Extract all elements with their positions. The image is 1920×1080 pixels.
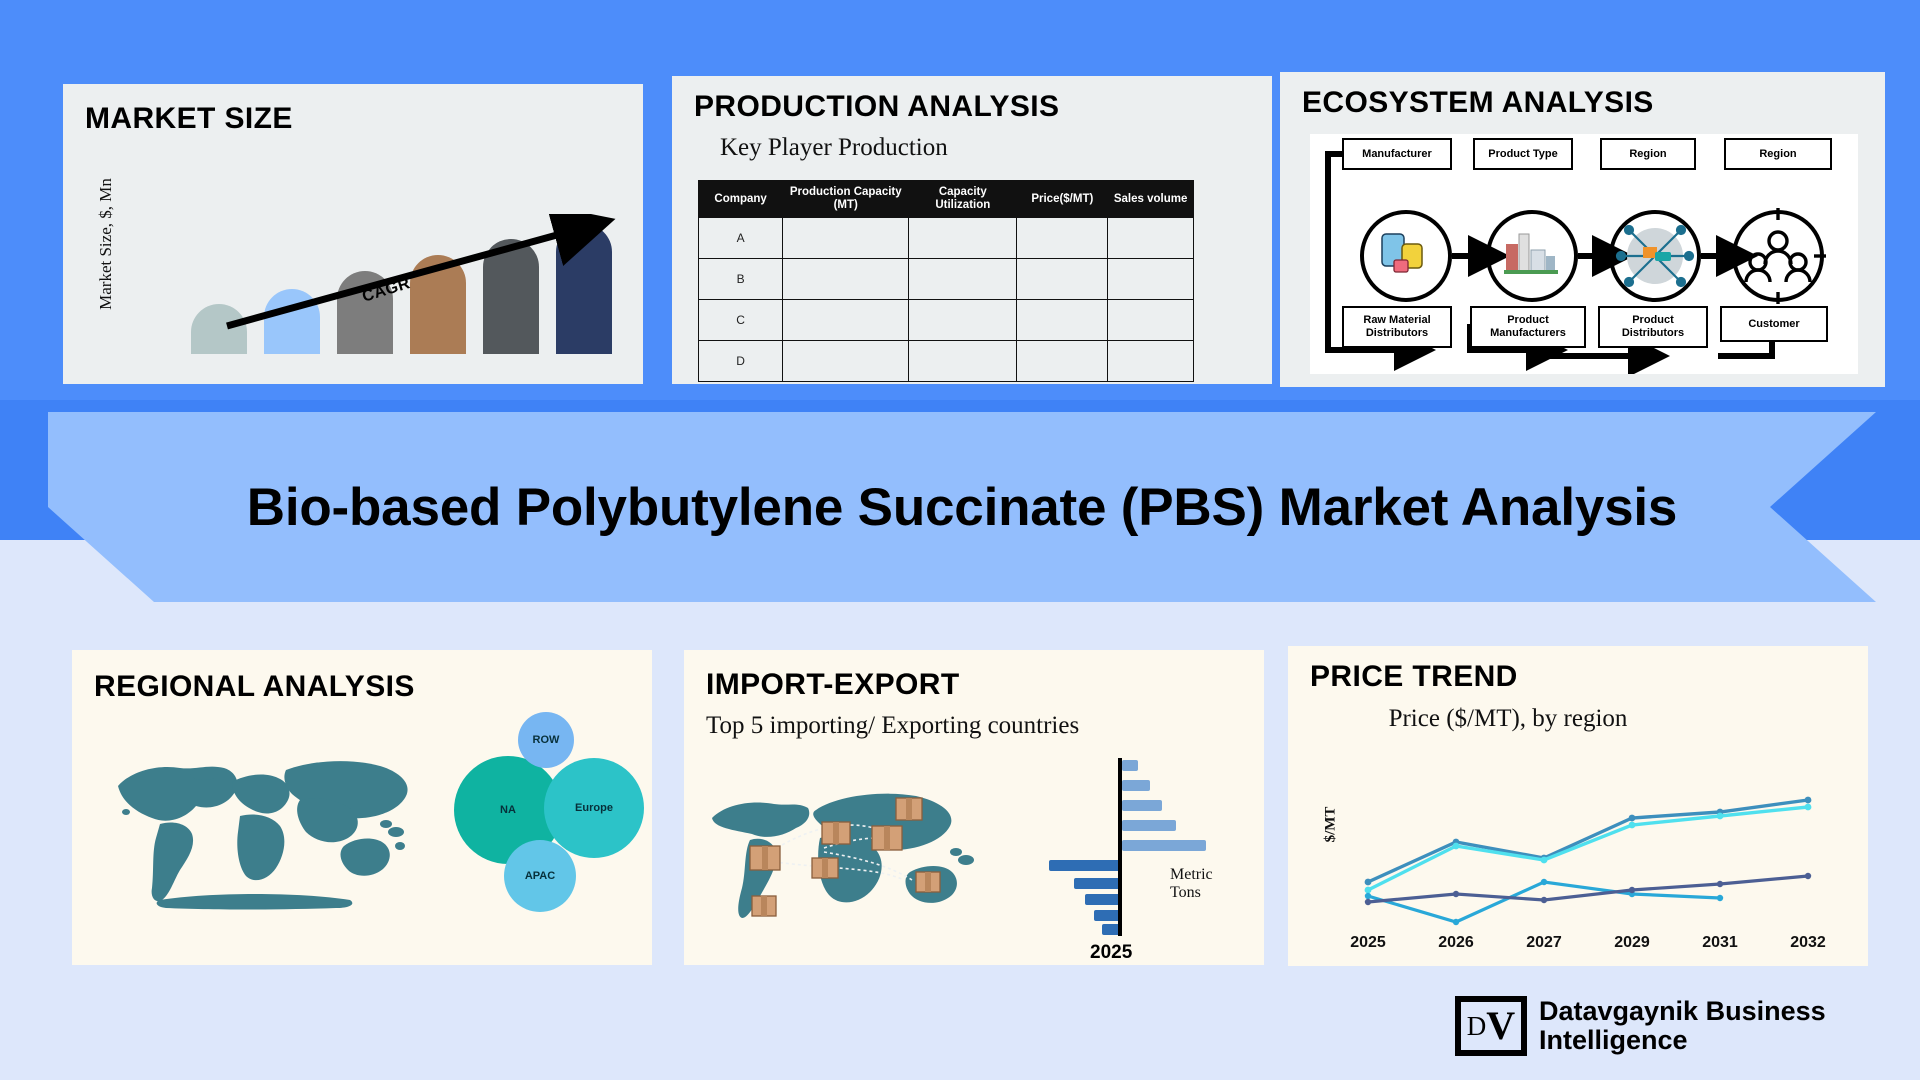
table-row: C [699, 300, 1194, 341]
production-subtitle: Key Player Production [720, 134, 948, 162]
col-sales-volume: Sales volume [1108, 181, 1194, 218]
bar-2029 [410, 255, 466, 354]
cell-company-d: D [699, 341, 783, 382]
logo-letter-d: D [1467, 1013, 1487, 1040]
bubble-europe: Europe [544, 758, 644, 858]
cell-price-b [1017, 259, 1108, 300]
pt-x-label-2032: 2032 [1773, 934, 1843, 952]
cell-sales-c [1108, 300, 1194, 341]
pt-x-label-2026: 2026 [1421, 934, 1491, 952]
export-bar-4 [1122, 820, 1176, 831]
bar-2025 [191, 304, 247, 354]
pt-x-label-2031: 2031 [1685, 934, 1755, 952]
eco-box-region-2: Region [1724, 138, 1832, 170]
import-bar-1 [1049, 860, 1122, 871]
col-price: Price($/MT) [1017, 181, 1108, 218]
metric-tons-label: Metric Tons [1170, 866, 1244, 902]
eco-box-product-distributors: Product Distributors [1598, 306, 1708, 348]
table-row: B [699, 259, 1194, 300]
price-trend-heading: PRICE TREND [1310, 660, 1518, 694]
cell-capacity-b [783, 259, 909, 300]
import-export-panel: IMPORT-EXPORT Top 5 importing/ Exporting… [684, 650, 1264, 965]
table-row: A [699, 218, 1194, 259]
import-bar-3 [1085, 894, 1122, 905]
eco-box-region-1: Region [1600, 138, 1696, 170]
infographic-canvas: MARKET SIZE Market Size, $, Mn CAGR 2025… [0, 0, 1920, 1080]
regional-heading: REGIONAL ANALYSIS [94, 670, 415, 704]
cell-util-c [909, 300, 1017, 341]
key-player-production-table: Company Production Capacity (MT) Capacit… [698, 180, 1194, 382]
bar-2032 [556, 224, 612, 354]
pt-x-label-2025: 2025 [1333, 934, 1403, 952]
import-export-tornado-chart: Metric Tons 2025 [1034, 758, 1244, 933]
cell-price-c [1017, 300, 1108, 341]
pt-x-label-2029: 2029 [1597, 934, 1667, 952]
tornado-year-label: 2025 [1090, 942, 1132, 964]
cell-capacity-a [783, 218, 909, 259]
production-heading: PRODUCTION ANALYSIS [694, 90, 1059, 124]
cell-company-a: A [699, 218, 783, 259]
cell-sales-b [1108, 259, 1194, 300]
ecosystem-diagram: Manufacturer Product Type Region Region … [1310, 134, 1858, 374]
export-bar-2 [1122, 780, 1150, 791]
cell-company-c: C [699, 300, 783, 341]
price-trend-y-axis-label: $/MT [1323, 780, 1340, 870]
bar-2026 [264, 289, 320, 354]
logo-letter-v: V [1486, 1006, 1515, 1046]
dv-monogram-icon: DV [1455, 996, 1527, 1056]
cell-sales-a [1108, 218, 1194, 259]
import-bar-2 [1074, 878, 1122, 889]
bubble-row: ROW [518, 712, 574, 768]
ecosystem-heading: ECOSYSTEM ANALYSIS [1302, 86, 1654, 120]
export-bar-3 [1122, 800, 1162, 811]
col-capacity-utilization: Capacity Utilization [909, 181, 1017, 218]
table-header-row: Company Production Capacity (MT) Capacit… [699, 181, 1194, 218]
bar-2031 [483, 239, 539, 354]
cell-capacity-c [783, 300, 909, 341]
trade-route-map-icon [704, 760, 1004, 930]
cell-sales-d [1108, 341, 1194, 382]
company-logo: DV Datavgaynik Business Intelligence [1455, 990, 1875, 1062]
eco-box-manufacturer: Manufacturer [1342, 138, 1452, 170]
import-export-heading: IMPORT-EXPORT [706, 668, 960, 702]
import-export-subtitle: Top 5 importing/ Exporting countries [706, 712, 1079, 740]
ecosystem-analysis-panel: ECOSYSTEM ANALYSIS [1280, 72, 1885, 387]
price-trend-panel: PRICE TREND Price ($/MT), by region $/MT [1288, 646, 1868, 966]
logo-company-name: Datavgaynik Business Intelligence [1539, 997, 1859, 1054]
col-company: Company [699, 181, 783, 218]
pt-x-label-2027: 2027 [1509, 934, 1579, 952]
table-row: D [699, 341, 1194, 382]
production-analysis-panel: PRODUCTION ANALYSIS Key Player Productio… [672, 76, 1272, 384]
market-size-y-axis-label: Market Size, $, Mn [96, 159, 116, 329]
cell-util-a [909, 218, 1017, 259]
cell-util-b [909, 259, 1017, 300]
bubble-apac: APAC [504, 840, 576, 912]
eco-box-product-manufacturers: Product Manufacturers [1470, 306, 1586, 348]
regional-analysis-panel: REGIONAL ANALYSIS NA Europe APAC ROW [72, 650, 652, 965]
eco-box-raw-material-distributors: Raw Material Distributors [1342, 306, 1452, 348]
market-size-panel: MARKET SIZE Market Size, $, Mn CAGR 2025… [63, 84, 643, 384]
col-production-capacity: Production Capacity (MT) [783, 181, 909, 218]
cell-price-a [1017, 218, 1108, 259]
price-trend-x-axis: 2025 2026 2027 2029 2031 2032 [1350, 934, 1840, 954]
cell-util-d [909, 341, 1017, 382]
eco-box-customer: Customer [1720, 306, 1828, 342]
world-map-icon [100, 728, 440, 928]
export-bar-1 [1122, 760, 1138, 771]
cell-company-b: B [699, 259, 783, 300]
cell-capacity-d [783, 341, 909, 382]
cell-price-d [1017, 341, 1108, 382]
tornado-center-axis [1118, 758, 1122, 936]
eco-box-product-type: Product Type [1473, 138, 1573, 170]
price-trend-lines [1350, 796, 1840, 926]
price-trend-subtitle: Price ($/MT), by region [1368, 704, 1648, 734]
page-title: Bio-based Polybutylene Succinate (PBS) M… [48, 412, 1876, 602]
market-size-heading: MARKET SIZE [85, 102, 293, 136]
export-bar-5 [1122, 840, 1206, 851]
